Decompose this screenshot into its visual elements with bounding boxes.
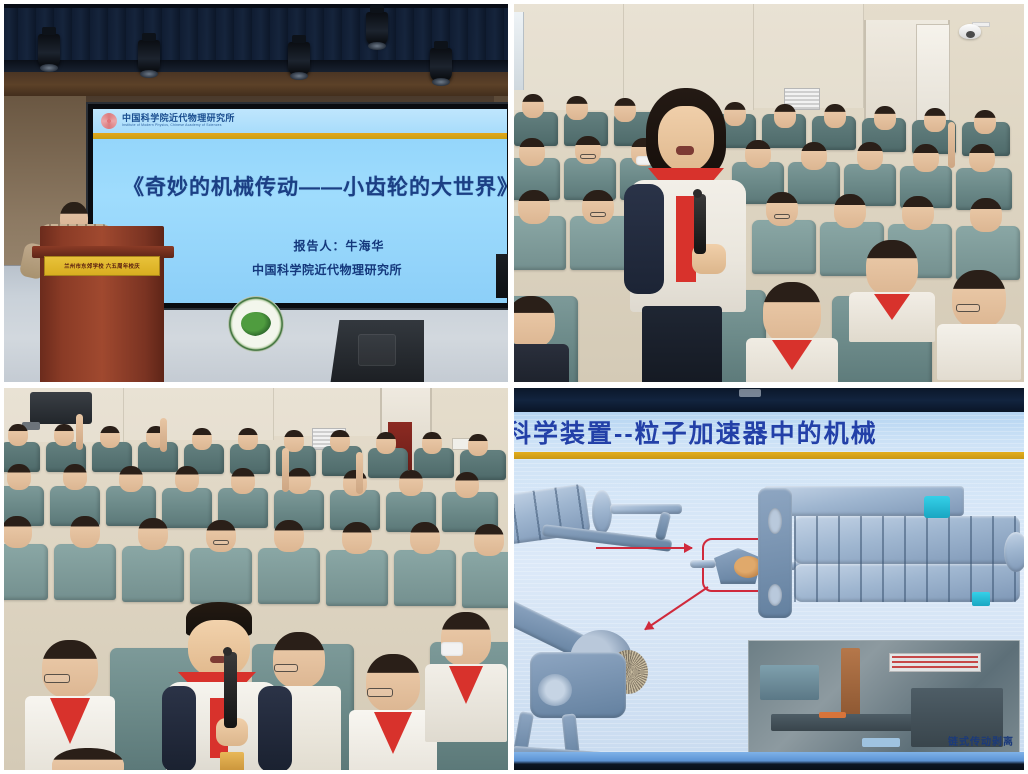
student-head — [342, 522, 372, 554]
slide-title: 《奇妙的机械传动——小齿轮的大世界》 — [123, 171, 507, 201]
student-head — [206, 520, 236, 552]
slide-institute-header: 中国科学院近代物理研究所 Institute of Modern Physics… — [93, 109, 507, 133]
seated-student — [826, 194, 874, 238]
student-head — [969, 144, 995, 172]
student-head — [512, 296, 555, 348]
student-head — [287, 468, 311, 494]
podium-sign: 兰州市东郊学校 六五周年校庆 — [44, 256, 160, 276]
student-head — [913, 144, 939, 172]
collage-gutter-horizontal — [0, 382, 1028, 388]
raised-hand — [948, 122, 955, 168]
student-torso — [937, 324, 1021, 380]
student-mouth — [676, 146, 694, 155]
seated-student — [794, 142, 834, 176]
seated-student — [516, 94, 550, 124]
seated-student — [266, 520, 312, 562]
handheld-microphone — [224, 652, 237, 728]
machine-frame — [771, 714, 933, 731]
stage-light-icon — [366, 12, 388, 46]
student-head — [7, 464, 31, 490]
stage-light-icon — [430, 48, 452, 82]
support-frame-leg — [562, 713, 581, 752]
machine-display — [862, 738, 900, 747]
eyeglasses-icon — [956, 304, 980, 312]
seated-student — [560, 96, 594, 126]
student-head — [100, 426, 120, 448]
seated-student — [568, 136, 608, 170]
stage-floor-monitor — [330, 320, 424, 386]
student-head — [763, 282, 821, 344]
student-head — [366, 654, 420, 712]
yoke-hole-icon — [768, 508, 782, 534]
seated-student — [232, 428, 264, 454]
student-head — [175, 466, 199, 492]
raised-hand — [76, 414, 83, 450]
student-head — [874, 106, 896, 130]
seated-student — [402, 522, 448, 564]
student-head — [801, 142, 827, 170]
jacket-sleeve-left — [162, 686, 196, 772]
seated-student — [112, 466, 150, 498]
seated-student — [2, 424, 34, 450]
photo-collage: 中国科学院近代物理研究所 Institute of Modern Physics… — [0, 0, 1028, 774]
student-head — [42, 640, 98, 698]
student-face — [658, 106, 714, 172]
seated-student — [336, 470, 374, 502]
seated-student-front — [424, 612, 508, 742]
flange-disc — [592, 490, 612, 534]
student-head — [119, 466, 143, 492]
eyeglasses-icon — [367, 688, 393, 697]
collage-edge-top — [0, 0, 1028, 4]
seated-student — [512, 190, 558, 234]
photo-accelerator-slide: 科学装置--粒子加速器中的机械 — [512, 386, 1028, 774]
seated-student — [186, 428, 218, 454]
seated-student — [392, 470, 430, 502]
machine-handle — [819, 712, 846, 718]
seated-student — [962, 144, 1002, 178]
seated-student — [416, 432, 448, 458]
seated-student — [918, 108, 952, 138]
face-mask-icon — [441, 642, 463, 656]
photo-student-question-girl — [512, 0, 1028, 386]
handheld-microphone — [694, 194, 706, 254]
student-trousers — [642, 306, 722, 386]
seated-student — [224, 468, 262, 500]
section-ribs — [794, 516, 1020, 564]
raised-hand — [356, 452, 363, 494]
student-head — [824, 104, 846, 128]
seated-student — [868, 106, 902, 136]
machine-frame — [760, 665, 819, 700]
cyan-highlight-part — [924, 496, 950, 518]
seated-student — [894, 196, 942, 240]
student-head — [343, 470, 367, 496]
standing-boy-with-microphone — [162, 602, 292, 774]
seated-student-front — [512, 296, 570, 386]
institute-name-cn: 中国科学院近代物理研究所 — [122, 114, 235, 123]
jacket-sleeve-right — [258, 686, 292, 772]
name-badge — [220, 752, 244, 772]
gear-bracket — [690, 560, 716, 568]
seated-student-front — [936, 270, 1022, 380]
seated-student — [758, 192, 806, 236]
student-head — [582, 190, 614, 224]
podium-sign-text: 兰州市东郊学校 六五周年校庆 — [64, 262, 140, 270]
student-head — [902, 196, 934, 230]
student-head — [974, 110, 996, 134]
student-head — [231, 468, 255, 494]
student-head — [834, 194, 866, 228]
seated-student — [324, 430, 356, 456]
seated-student — [168, 466, 206, 498]
student-head — [970, 198, 1002, 232]
seated-student — [850, 142, 890, 176]
student-head — [274, 520, 304, 552]
jacket-sleeve — [624, 184, 664, 294]
seated-student — [768, 104, 802, 134]
student-head — [575, 136, 601, 164]
student-head — [455, 472, 479, 498]
slide-accent-bar — [512, 452, 1028, 459]
student-head — [952, 270, 1006, 328]
seated-student — [818, 104, 852, 134]
student-face — [188, 620, 250, 678]
seated-student — [94, 426, 126, 452]
screen-top-frame — [512, 386, 1028, 412]
slide-caption: 链式传动剥离 — [948, 733, 1014, 748]
seated-student — [512, 138, 552, 172]
eyeglasses-icon — [44, 674, 70, 683]
collage-edge-bottom — [0, 770, 1028, 774]
seated-student — [140, 426, 172, 452]
raised-hand — [160, 418, 167, 452]
eyeglasses-icon — [590, 212, 606, 217]
seated-student — [574, 190, 622, 234]
annotation-arrow — [644, 586, 708, 630]
photo-student-question-boy — [0, 386, 512, 774]
student-head — [238, 428, 258, 450]
stage-light-icon — [288, 42, 310, 76]
seating-area — [512, 100, 1028, 386]
seated-student — [462, 434, 494, 460]
shaft-left — [610, 504, 682, 514]
seated-student — [448, 472, 486, 504]
collage-edge-left — [0, 0, 4, 774]
raised-hand — [282, 448, 289, 492]
standing-girl-with-microphone — [624, 88, 756, 386]
student-head — [63, 464, 87, 490]
stand-leg — [655, 511, 671, 541]
seated-student — [370, 432, 402, 458]
eyeglasses-icon — [213, 540, 229, 545]
seated-student — [56, 464, 94, 496]
student-head — [54, 424, 74, 446]
cyan-highlight-part — [972, 592, 990, 606]
student-head — [866, 240, 918, 296]
student-head — [192, 428, 212, 450]
institute-name-en: Institute of Modern Physics, Chinese Aca… — [122, 124, 235, 127]
seated-student — [962, 198, 1010, 242]
student-head — [566, 96, 588, 120]
student-head — [766, 192, 798, 226]
photo-lecture-stage: 中国科学院近代物理研究所 Institute of Modern Physics… — [0, 0, 512, 386]
student-head — [441, 612, 491, 666]
seated-student — [466, 524, 512, 566]
student-head — [518, 190, 550, 224]
collage-edge-right — [1024, 0, 1028, 774]
student-head — [410, 522, 440, 554]
seated-student-front — [744, 282, 840, 386]
seated-student — [0, 464, 38, 496]
stage-light-icon — [38, 34, 60, 68]
stage-light-icon — [138, 40, 160, 74]
seated-student — [198, 520, 244, 562]
accelerator-slide-title: 科学装置--粒子加速器中的机械 — [512, 414, 1028, 450]
annotation-arrow — [596, 547, 692, 549]
eyeglasses-icon — [774, 214, 790, 219]
school-crest-emblem — [228, 296, 284, 352]
bevel-gear-hub — [538, 674, 572, 706]
student-head — [138, 518, 168, 550]
student-head — [2, 516, 32, 548]
student-head — [857, 142, 883, 170]
accelerator-slide: 科学装置--粒子加速器中的机械 — [512, 412, 1028, 752]
warning-sign — [889, 653, 981, 672]
student-head — [522, 94, 544, 118]
seated-student — [968, 110, 1002, 140]
yoke-hole-icon — [768, 584, 782, 606]
seated-student — [906, 144, 946, 178]
student-head — [519, 138, 545, 166]
student-head — [422, 432, 442, 454]
seated-student-front — [848, 240, 936, 340]
student-head — [70, 516, 100, 548]
seated-student — [334, 522, 380, 564]
dome-security-camera — [959, 24, 981, 39]
seated-student — [0, 516, 40, 558]
student-head — [924, 108, 946, 132]
seated-student — [130, 518, 176, 560]
student-head — [774, 104, 796, 128]
student-torso — [512, 344, 569, 386]
student-head — [468, 434, 488, 456]
student-head — [399, 470, 423, 496]
slide-accent-bar — [93, 133, 507, 139]
seated-student — [62, 516, 108, 558]
atom-icon — [101, 113, 117, 129]
student-head — [474, 524, 504, 556]
eyeglasses-icon — [580, 154, 596, 159]
student-head — [376, 432, 396, 454]
student-head — [8, 424, 28, 446]
student-head — [330, 430, 350, 452]
